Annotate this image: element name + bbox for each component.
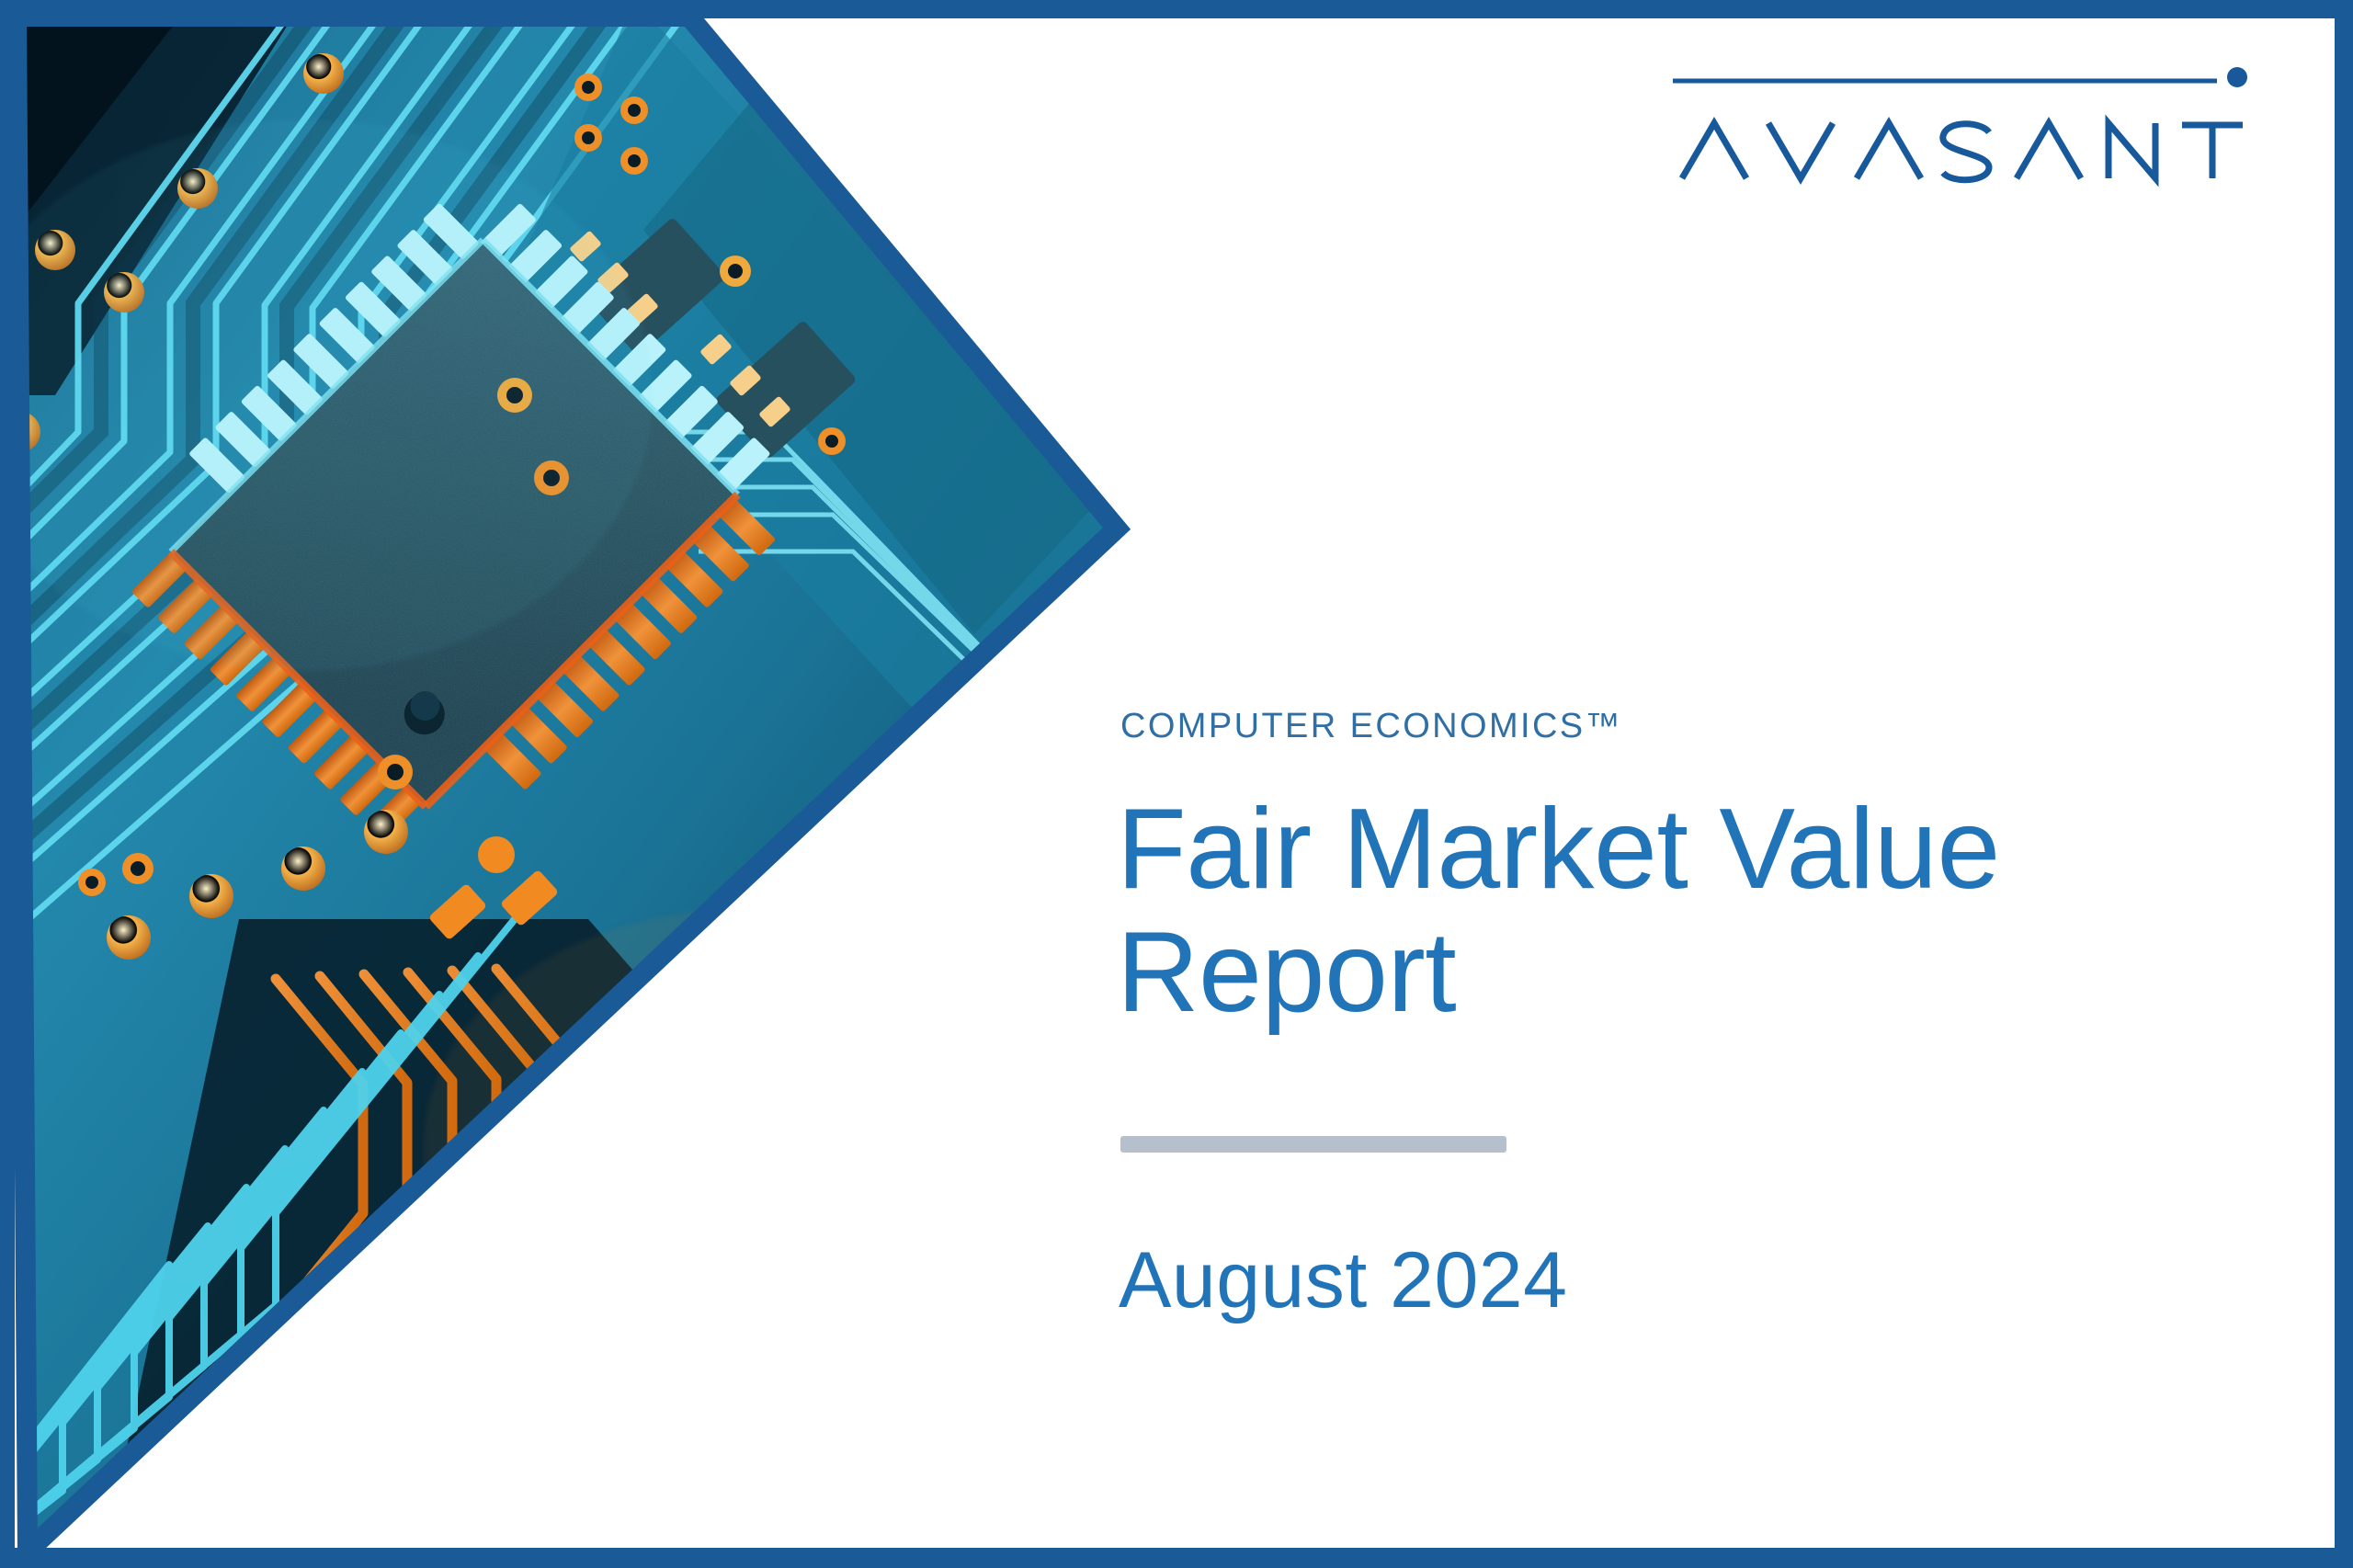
logo-dot bbox=[2227, 67, 2247, 87]
frame-left-border bbox=[0, 0, 15, 1568]
circuit-board-artwork bbox=[0, 0, 1158, 1568]
brand-eyebrow: COMPUTER ECONOMICS™ bbox=[1120, 708, 2201, 746]
report-date: August 2024 bbox=[1119, 1239, 2201, 1322]
page-title-line-2: Report bbox=[1117, 912, 2201, 1035]
frame-right-border bbox=[2335, 0, 2353, 1568]
page-title-line-1: Fair Market Value bbox=[1117, 789, 2201, 912]
frame-bottom-border bbox=[0, 1548, 2353, 1568]
title-divider bbox=[1120, 1136, 1506, 1153]
cover-text-block: COMPUTER ECONOMICS™ Fair Market Value Re… bbox=[1117, 708, 2201, 1322]
frame-top-border bbox=[0, 0, 2353, 18]
cover-page: COMPUTER ECONOMICS™ Fair Market Value Re… bbox=[0, 0, 2353, 1568]
page-title: Fair Market Value Report bbox=[1117, 789, 2201, 1035]
avasant-logo bbox=[1665, 57, 2254, 195]
